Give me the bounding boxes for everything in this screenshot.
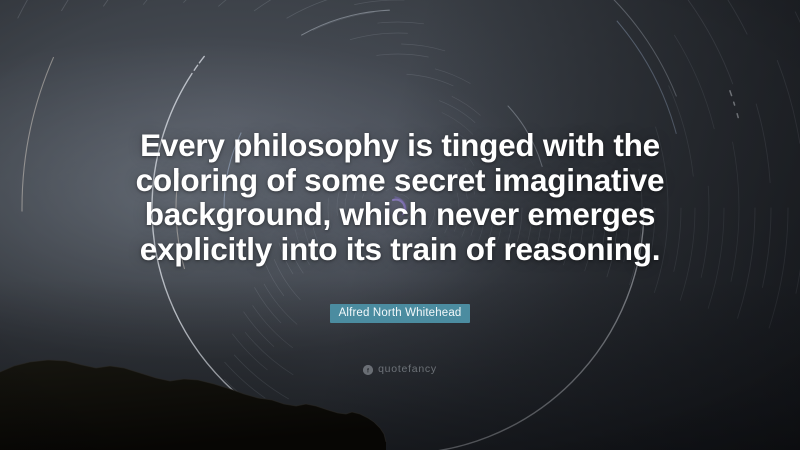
quote-line-3: background, which never emerges: [0, 197, 800, 232]
quote-content: Every philosophy is tinged with the colo…: [0, 0, 800, 450]
author-attribution: Alfred North Whitehead: [0, 303, 800, 323]
quote-text: Every philosophy is tinged with the colo…: [0, 128, 800, 266]
quotefancy-brand-text: quotefancy: [378, 364, 437, 375]
quote-line-2: coloring of some secret imaginative: [0, 163, 800, 198]
quotefancy-watermark: f quotefancy: [0, 364, 800, 375]
quote-wallpaper: Every philosophy is tinged with the colo…: [0, 0, 800, 450]
author-name-badge: Alfred North Whitehead: [330, 304, 471, 323]
quote-line-1: Every philosophy is tinged with the: [0, 128, 800, 163]
quote-line-4: explicitly into its train of reasoning.: [0, 232, 800, 267]
quotefancy-circle-logo-icon: f: [363, 365, 373, 375]
